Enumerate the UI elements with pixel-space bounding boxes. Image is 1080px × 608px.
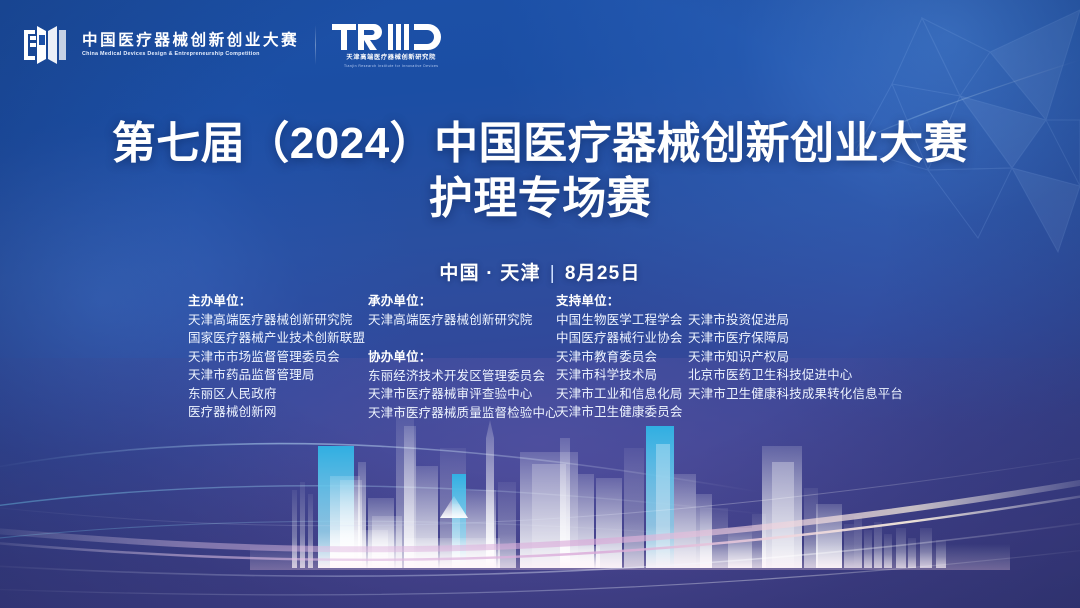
institute-logo-block: 天津高端医疗器械创新研究院 Tianjin Research Institute… (332, 22, 450, 69)
list-item: 天津市科学技术局 (556, 366, 688, 384)
list-item: 天津市投资促进局 (688, 311, 903, 329)
supporter-heading: 支持单位： (556, 292, 688, 311)
institute-name-en: Tianjin Research Institute for Innovativ… (344, 65, 438, 69)
logo-divider (315, 25, 316, 65)
list-item: 天津高端医疗器械创新研究院 (188, 311, 368, 329)
organizer-heading: 主办单位： (188, 292, 368, 311)
title-line-1: 第七届（2024）中国医疗器械创新创业大赛 (0, 118, 1080, 169)
list-item: 天津市市场监督管理委员会 (188, 348, 368, 366)
column-spacer (368, 329, 556, 347)
header-logos: 中国医疗器械创新创业大赛 China Medical Devices Desig… (22, 22, 450, 69)
subtitle-separator: | (550, 263, 556, 285)
list-item: 医疗器械创新网 (188, 403, 368, 421)
list-item: 天津市教育委员会 (556, 348, 688, 366)
competition-logo-icon (22, 23, 68, 67)
event-location: 中国 · 天津 (439, 263, 540, 284)
list-item: 国家医疗器械产业技术创新联盟 (188, 329, 368, 347)
list-item: 天津高端医疗器械创新研究院 (368, 311, 556, 329)
list-item: 东丽经济技术开发区管理委员会 (368, 367, 556, 385)
triid-wordmark-icon (332, 22, 450, 52)
list-item: 东丽区人民政府 (188, 385, 368, 403)
competition-name-en: China Medical Devices Design & Entrepren… (82, 52, 299, 58)
list-item: 天津市医疗器械审评查验中心 (368, 385, 556, 403)
list-item: 天津市医疗保障局 (688, 329, 903, 347)
title-block: 第七届（2024）中国医疗器械创新创业大赛 护理专场赛 (0, 118, 1080, 224)
supporter-column-right: 天津市投资促进局 天津市医疗保障局 天津市知识产权局 北京市医药卫生科技促进中心… (688, 292, 903, 403)
list-item: 中国生物医学工程学会 (556, 311, 688, 329)
competition-name-block: 中国医疗器械创新创业大赛 China Medical Devices Desig… (82, 33, 299, 57)
poster-canvas: 中国医疗器械创新创业大赛 China Medical Devices Desig… (0, 0, 1080, 608)
organizer-column: 主办单位： 天津高端医疗器械创新研究院 国家医疗器械产业技术创新联盟 天津市市场… (188, 292, 368, 421)
undertaker-column: 承办单位： 天津高端医疗器械创新研究院 协办单位： 东丽经济技术开发区管理委员会… (368, 292, 556, 422)
list-item: 天津市工业和信息化局 (556, 385, 688, 403)
supporter-heading-continued (688, 292, 903, 311)
list-item: 天津市医疗器械质量监督检验中心 (368, 404, 556, 422)
list-item: 天津市药品监督管理局 (188, 366, 368, 384)
institute-name-cn: 天津高端医疗器械创新研究院 (346, 55, 436, 62)
list-item: 天津市卫生健康科技成果转化信息平台 (688, 385, 903, 403)
supporter-column-left: 支持单位： 中国生物医学工程学会 中国医疗器械行业协会 天津市教育委员会 天津市… (556, 292, 688, 421)
coorganizer-heading: 协办单位： (368, 348, 556, 367)
list-item: 天津市知识产权局 (688, 348, 903, 366)
list-item: 天津市卫生健康委员会 (556, 403, 688, 421)
title-line-2: 护理专场赛 (0, 173, 1080, 224)
event-subtitle: 中国 · 天津|8月25日 (0, 258, 1080, 285)
list-item: 北京市医药卫生科技促进中心 (688, 366, 903, 384)
event-date: 8月25日 (565, 263, 641, 284)
undertaker-heading: 承办单位： (368, 292, 556, 311)
organizations-block: 主办单位： 天津高端医疗器械创新研究院 国家医疗器械产业技术创新联盟 天津市市场… (188, 292, 903, 422)
list-item: 中国医疗器械行业协会 (556, 329, 688, 347)
competition-name-cn: 中国医疗器械创新创业大赛 (82, 33, 299, 49)
